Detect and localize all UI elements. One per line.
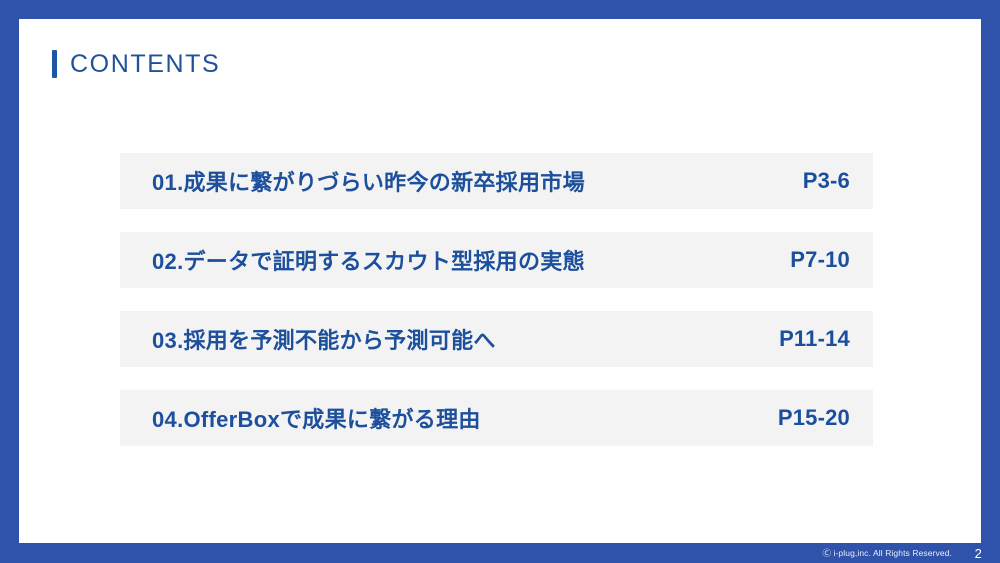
toc-row[interactable]: 02.データで証明するスカウト型採用の実態 P7-10: [120, 232, 873, 288]
toc-row[interactable]: 04.OfferBoxで成果に繋がる理由 P15-20: [120, 390, 873, 446]
toc-row-page-range: P11-14: [758, 326, 850, 352]
toc-row-title: 04.OfferBoxで成果に繋がる理由: [152, 402, 481, 434]
toc-row[interactable]: 03.採用を予測不能から予測可能へ P11-14: [120, 311, 873, 367]
toc-row-title: 01.成果に繋がりづらい昨今の新卒採用市場: [152, 165, 585, 197]
page-number: 2: [972, 546, 982, 561]
copyright-notice: Ⓒ i-plug,inc. All Rights Reserved.: [822, 547, 952, 559]
slide: CONTENTS 01.成果に繋がりづらい昨今の新卒採用市場 P3-6 02.デ…: [0, 0, 1000, 563]
toc-row-page-range: P7-10: [758, 247, 850, 273]
toc-row-page-range: P15-20: [758, 405, 850, 431]
toc-row-title: 03.採用を予測不能から予測可能へ: [152, 323, 496, 355]
toc-row-title: 02.データで証明するスカウト型採用の実態: [152, 244, 585, 276]
toc-row[interactable]: 01.成果に繋がりづらい昨今の新卒採用市場 P3-6: [120, 153, 873, 209]
toc-row-page-range: P3-6: [758, 168, 850, 194]
title-accent-bar: [52, 50, 57, 78]
slide-footer: Ⓒ i-plug,inc. All Rights Reserved. 2: [0, 543, 1000, 563]
table-of-contents: 01.成果に繋がりづらい昨今の新卒採用市場 P3-6 02.データで証明するスカ…: [120, 153, 873, 446]
page-title: CONTENTS: [52, 50, 220, 78]
slide-content-area: CONTENTS 01.成果に繋がりづらい昨今の新卒採用市場 P3-6 02.デ…: [19, 19, 981, 543]
page-title-label: CONTENTS: [70, 52, 220, 77]
